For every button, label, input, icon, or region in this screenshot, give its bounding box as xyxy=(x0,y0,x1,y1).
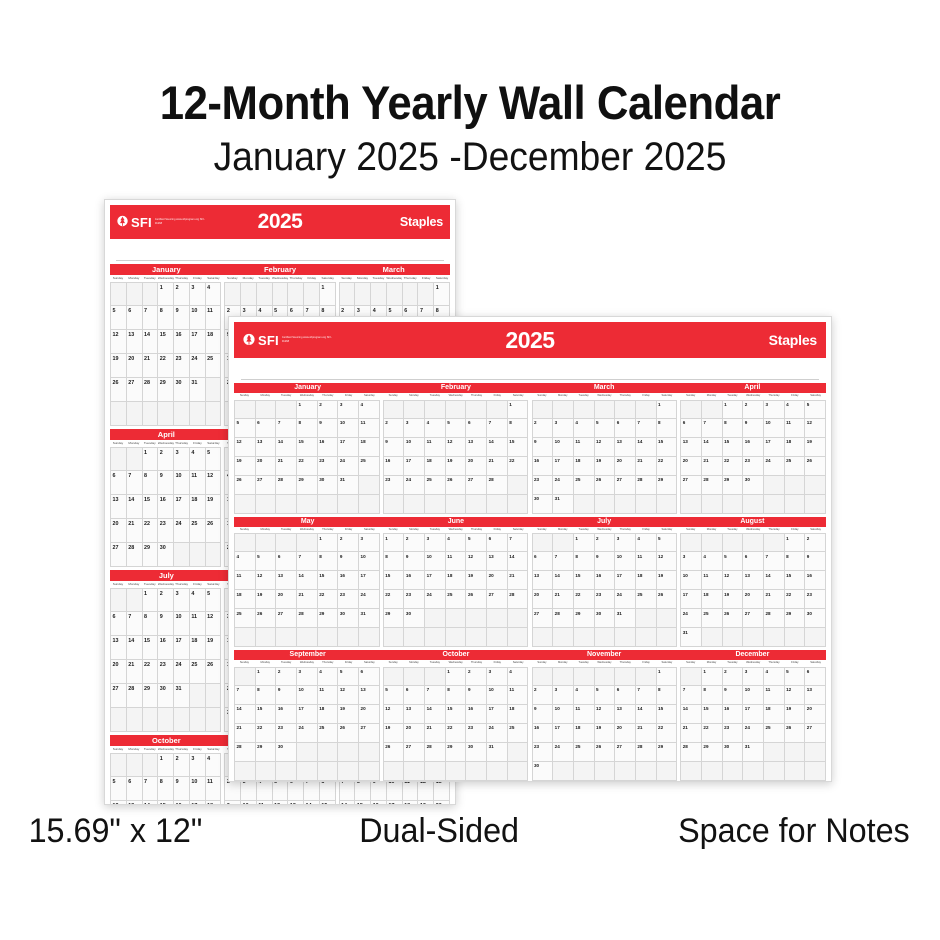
day-cell[interactable]: 23 xyxy=(404,590,425,609)
day-cell[interactable]: 26 xyxy=(595,743,616,762)
day-cell[interactable]: 8 xyxy=(158,306,174,330)
day-cell[interactable]: 27 xyxy=(127,378,143,402)
day-cell[interactable]: 5 xyxy=(595,419,616,438)
day-cell-empty[interactable] xyxy=(174,543,190,567)
day-cell[interactable]: 29 xyxy=(143,684,159,708)
day-cell[interactable]: 11 xyxy=(764,686,785,705)
day-cell[interactable]: 7 xyxy=(487,419,508,438)
day-cell[interactable]: 23 xyxy=(743,457,764,476)
day-cell[interactable]: 24 xyxy=(764,457,785,476)
day-cell[interactable]: 17 xyxy=(387,801,403,805)
day-cell[interactable]: 2 xyxy=(276,667,297,686)
day-cell-empty[interactable] xyxy=(702,495,723,514)
day-cell[interactable]: 11 xyxy=(234,571,256,590)
day-cell-empty[interactable] xyxy=(702,762,723,781)
day-cell-empty[interactable] xyxy=(234,762,256,781)
day-cell[interactable]: 1 xyxy=(657,400,678,419)
day-cell[interactable]: 16 xyxy=(158,636,174,660)
day-cell-empty[interactable] xyxy=(680,533,702,552)
day-cell[interactable]: 20 xyxy=(615,457,636,476)
day-cell[interactable]: 27 xyxy=(680,476,702,495)
day-cell[interactable]: 23 xyxy=(174,354,190,378)
day-cell[interactable]: 2 xyxy=(532,419,554,438)
day-cell[interactable]: 26 xyxy=(657,590,678,609)
day-cell[interactable]: 28 xyxy=(764,609,785,628)
day-cell-empty[interactable] xyxy=(297,495,318,514)
day-cell[interactable]: 10 xyxy=(615,552,636,571)
day-cell-empty[interactable] xyxy=(276,400,297,419)
day-cell[interactable]: 23 xyxy=(466,724,487,743)
day-cell[interactable]: 28 xyxy=(234,743,256,762)
day-cell[interactable]: 28 xyxy=(702,476,723,495)
day-cell-empty[interactable] xyxy=(723,533,744,552)
day-cell-empty[interactable] xyxy=(110,402,127,426)
day-cell[interactable]: 13 xyxy=(276,571,297,590)
day-cell-empty[interactable] xyxy=(127,708,143,732)
day-cell-empty[interactable] xyxy=(127,282,143,306)
day-cell[interactable]: 16 xyxy=(371,801,387,805)
day-cell[interactable]: 12 xyxy=(595,705,616,724)
day-cell[interactable]: 12 xyxy=(723,571,744,590)
day-cell-empty[interactable] xyxy=(158,402,174,426)
day-cell[interactable]: 21 xyxy=(508,571,529,590)
day-cell[interactable]: 5 xyxy=(466,533,487,552)
day-cell-empty[interactable] xyxy=(206,684,222,708)
day-cell-empty[interactable] xyxy=(256,400,277,419)
day-cell-empty[interactable] xyxy=(446,762,467,781)
day-cell[interactable]: 9 xyxy=(723,686,744,705)
day-cell[interactable]: 14 xyxy=(297,571,318,590)
day-cell-empty[interactable] xyxy=(723,628,744,647)
day-cell[interactable]: 15 xyxy=(702,705,723,724)
day-cell[interactable]: 28 xyxy=(553,609,574,628)
day-cell[interactable]: 7 xyxy=(127,612,143,636)
day-cell-empty[interactable] xyxy=(304,282,320,306)
day-cell[interactable]: 3 xyxy=(615,533,636,552)
day-cell-empty[interactable] xyxy=(143,402,159,426)
day-cell[interactable]: 9 xyxy=(158,612,174,636)
day-cell[interactable]: 29 xyxy=(574,609,595,628)
day-cell[interactable]: 9 xyxy=(595,552,616,571)
day-cell[interactable]: 8 xyxy=(785,552,806,571)
day-cell[interactable]: 27 xyxy=(404,743,425,762)
day-cell[interactable]: 14 xyxy=(127,495,143,519)
day-cell-empty[interactable] xyxy=(446,609,467,628)
day-cell[interactable]: 14 xyxy=(764,571,785,590)
day-cell[interactable]: 28 xyxy=(297,609,318,628)
day-cell-empty[interactable] xyxy=(636,667,657,686)
day-cell-empty[interactable] xyxy=(680,495,702,514)
day-cell[interactable]: 1 xyxy=(158,282,174,306)
day-cell[interactable]: 1 xyxy=(318,533,339,552)
day-cell[interactable]: 28 xyxy=(143,378,159,402)
day-cell-empty[interactable] xyxy=(256,533,277,552)
day-cell[interactable]: 15 xyxy=(297,438,318,457)
day-cell[interactable]: 30 xyxy=(723,743,744,762)
day-cell[interactable]: 2 xyxy=(532,686,554,705)
day-cell[interactable]: 8 xyxy=(383,552,405,571)
day-cell[interactable]: 20 xyxy=(615,724,636,743)
day-cell-empty[interactable] xyxy=(234,628,256,647)
day-cell[interactable]: 20 xyxy=(404,724,425,743)
day-cell[interactable]: 22 xyxy=(785,590,806,609)
day-cell-empty[interactable] xyxy=(446,495,467,514)
day-cell[interactable]: 31 xyxy=(680,628,702,647)
day-cell[interactable]: 25 xyxy=(425,476,446,495)
day-cell[interactable]: 10 xyxy=(174,612,190,636)
day-cell[interactable]: 8 xyxy=(297,419,318,438)
day-cell[interactable]: 11 xyxy=(702,571,723,590)
day-cell[interactable]: 18 xyxy=(403,801,419,805)
day-cell[interactable]: 3 xyxy=(338,400,359,419)
day-cell[interactable]: 4 xyxy=(206,753,222,777)
day-cell-empty[interactable] xyxy=(764,762,785,781)
day-cell-empty[interactable] xyxy=(359,743,380,762)
day-cell[interactable]: 8 xyxy=(318,552,339,571)
day-cell[interactable]: 8 xyxy=(657,686,678,705)
day-cell[interactable]: 25 xyxy=(508,724,529,743)
day-cell[interactable]: 24 xyxy=(615,590,636,609)
day-cell[interactable]: 30 xyxy=(743,476,764,495)
day-cell[interactable]: 24 xyxy=(743,724,764,743)
day-cell[interactable]: 3 xyxy=(404,419,425,438)
day-cell-empty[interactable] xyxy=(383,495,405,514)
day-cell-empty[interactable] xyxy=(553,628,574,647)
day-cell[interactable]: 16 xyxy=(723,705,744,724)
day-cell[interactable]: 7 xyxy=(553,552,574,571)
day-cell[interactable]: 1 xyxy=(657,667,678,686)
day-cell-empty[interactable] xyxy=(636,609,657,628)
day-cell[interactable]: 20 xyxy=(532,590,554,609)
day-cell[interactable]: 8 xyxy=(446,686,467,705)
day-cell[interactable]: 4 xyxy=(318,667,339,686)
day-cell[interactable]: 6 xyxy=(466,419,487,438)
day-cell[interactable]: 19 xyxy=(466,571,487,590)
day-cell[interactable]: 12 xyxy=(206,471,222,495)
day-cell[interactable]: 27 xyxy=(359,724,380,743)
day-cell[interactable]: 23 xyxy=(532,476,554,495)
day-cell[interactable]: 18 xyxy=(359,438,380,457)
day-cell[interactable]: 21 xyxy=(702,457,723,476)
day-cell[interactable]: 21 xyxy=(143,354,159,378)
day-cell[interactable]: 11 xyxy=(359,419,380,438)
day-cell[interactable]: 20 xyxy=(466,457,487,476)
day-cell[interactable]: 14 xyxy=(425,705,446,724)
day-cell[interactable]: 3 xyxy=(487,667,508,686)
day-cell[interactable]: 27 xyxy=(276,609,297,628)
day-cell[interactable]: 12 xyxy=(256,571,277,590)
day-cell-empty[interactable] xyxy=(297,743,318,762)
day-cell[interactable]: 9 xyxy=(174,777,190,801)
day-cell-empty[interactable] xyxy=(404,762,425,781)
day-cell[interactable]: 4 xyxy=(234,552,256,571)
day-cell[interactable]: 29 xyxy=(256,743,277,762)
day-cell[interactable]: 8 xyxy=(702,686,723,705)
day-cell[interactable]: 1 xyxy=(383,533,405,552)
day-cell[interactable]: 19 xyxy=(446,457,467,476)
day-cell[interactable]: 31 xyxy=(338,476,359,495)
day-cell[interactable]: 27 xyxy=(487,590,508,609)
day-cell[interactable]: 2 xyxy=(158,588,174,612)
day-cell-empty[interactable] xyxy=(553,400,574,419)
day-cell[interactable]: 10 xyxy=(553,438,574,457)
day-cell[interactable]: 4 xyxy=(574,419,595,438)
day-cell[interactable]: 14 xyxy=(143,330,159,354)
day-cell-empty[interactable] xyxy=(158,708,174,732)
day-cell-empty[interactable] xyxy=(636,400,657,419)
day-cell[interactable]: 5 xyxy=(723,552,744,571)
day-cell[interactable]: 7 xyxy=(425,686,446,705)
day-cell[interactable]: 22 xyxy=(574,590,595,609)
day-cell[interactable]: 9 xyxy=(532,705,554,724)
day-cell[interactable]: 17 xyxy=(615,571,636,590)
day-cell[interactable]: 6 xyxy=(615,419,636,438)
day-cell[interactable]: 30 xyxy=(404,609,425,628)
day-cell[interactable]: 19 xyxy=(785,705,806,724)
day-cell-empty[interactable] xyxy=(466,495,487,514)
day-cell[interactable]: 17 xyxy=(174,495,190,519)
day-cell-empty[interactable] xyxy=(190,402,206,426)
day-cell[interactable]: 21 xyxy=(276,457,297,476)
day-cell[interactable]: 15 xyxy=(657,438,678,457)
day-cell[interactable]: 25 xyxy=(574,476,595,495)
day-cell-empty[interactable] xyxy=(743,533,764,552)
day-cell[interactable]: 3 xyxy=(743,667,764,686)
day-cell-empty[interactable] xyxy=(234,495,256,514)
day-cell[interactable]: 5 xyxy=(234,419,256,438)
day-cell-empty[interactable] xyxy=(574,495,595,514)
day-cell[interactable]: 17 xyxy=(404,457,425,476)
day-cell-empty[interactable] xyxy=(234,667,256,686)
day-cell[interactable]: 18 xyxy=(234,590,256,609)
day-cell[interactable]: 2 xyxy=(383,419,405,438)
day-cell[interactable]: 26 xyxy=(234,476,256,495)
day-cell[interactable]: 21 xyxy=(636,724,657,743)
day-cell[interactable]: 20 xyxy=(127,354,143,378)
day-cell-empty[interactable] xyxy=(532,400,554,419)
day-cell[interactable]: 21 xyxy=(127,660,143,684)
day-cell-empty[interactable] xyxy=(297,628,318,647)
day-cell-empty[interactable] xyxy=(383,400,405,419)
day-cell[interactable]: 26 xyxy=(446,476,467,495)
day-cell[interactable]: 6 xyxy=(615,686,636,705)
day-cell-empty[interactable] xyxy=(743,762,764,781)
day-cell[interactable]: 22 xyxy=(383,590,405,609)
day-cell[interactable]: 30 xyxy=(174,378,190,402)
day-cell[interactable]: 22 xyxy=(143,660,159,684)
day-cell[interactable]: 13 xyxy=(615,438,636,457)
day-cell[interactable]: 15 xyxy=(143,495,159,519)
day-cell[interactable]: 21 xyxy=(297,590,318,609)
day-cell[interactable]: 29 xyxy=(446,743,467,762)
day-cell[interactable]: 2 xyxy=(174,282,190,306)
day-cell[interactable]: 24 xyxy=(404,476,425,495)
day-cell[interactable]: 26 xyxy=(206,660,222,684)
day-cell[interactable]: 26 xyxy=(466,590,487,609)
day-cell-empty[interactable] xyxy=(785,476,806,495)
day-cell-empty[interactable] xyxy=(190,543,206,567)
day-cell[interactable]: 10 xyxy=(404,438,425,457)
day-cell[interactable]: 30 xyxy=(532,495,554,514)
day-cell[interactable]: 7 xyxy=(276,419,297,438)
day-cell-empty[interactable] xyxy=(276,762,297,781)
day-cell[interactable]: 3 xyxy=(764,400,785,419)
day-cell[interactable]: 1 xyxy=(434,282,450,306)
day-cell-empty[interactable] xyxy=(371,282,387,306)
day-cell[interactable]: 31 xyxy=(174,684,190,708)
day-cell-empty[interactable] xyxy=(657,609,678,628)
day-cell-empty[interactable] xyxy=(508,495,529,514)
day-cell[interactable]: 14 xyxy=(680,705,702,724)
day-cell[interactable]: 26 xyxy=(383,743,405,762)
day-cell[interactable]: 9 xyxy=(174,306,190,330)
day-cell[interactable]: 11 xyxy=(190,612,206,636)
day-cell-empty[interactable] xyxy=(318,743,339,762)
day-cell[interactable]: 7 xyxy=(702,419,723,438)
day-cell[interactable]: 15 xyxy=(355,801,371,805)
day-cell[interactable]: 28 xyxy=(127,684,143,708)
day-cell[interactable]: 10 xyxy=(487,686,508,705)
day-cell[interactable]: 9 xyxy=(532,438,554,457)
day-cell[interactable]: 11 xyxy=(636,552,657,571)
day-cell[interactable]: 26 xyxy=(723,609,744,628)
day-cell[interactable]: 17 xyxy=(487,705,508,724)
day-cell-empty[interactable] xyxy=(595,495,616,514)
day-cell-empty[interactable] xyxy=(508,743,529,762)
day-cell-empty[interactable] xyxy=(143,753,159,777)
day-cell[interactable]: 21 xyxy=(553,590,574,609)
day-cell-empty[interactable] xyxy=(355,282,371,306)
day-cell-empty[interactable] xyxy=(508,476,529,495)
day-cell-empty[interactable] xyxy=(680,762,702,781)
day-cell[interactable]: 11 xyxy=(190,471,206,495)
day-cell[interactable]: 24 xyxy=(425,590,446,609)
day-cell[interactable]: 16 xyxy=(404,571,425,590)
day-cell[interactable]: 25 xyxy=(206,354,222,378)
day-cell-empty[interactable] xyxy=(383,628,405,647)
day-cell-empty[interactable] xyxy=(359,495,380,514)
day-cell[interactable]: 14 xyxy=(339,801,356,805)
day-cell-empty[interactable] xyxy=(487,495,508,514)
day-cell[interactable]: 23 xyxy=(318,457,339,476)
day-cell[interactable]: 13 xyxy=(359,686,380,705)
day-cell-empty[interactable] xyxy=(466,628,487,647)
day-cell[interactable]: 30 xyxy=(318,476,339,495)
day-cell-empty[interactable] xyxy=(297,533,318,552)
day-cell[interactable]: 11 xyxy=(206,777,222,801)
day-cell-empty[interactable] xyxy=(256,495,277,514)
day-cell[interactable]: 22 xyxy=(657,724,678,743)
day-cell[interactable]: 12 xyxy=(383,705,405,724)
day-cell[interactable]: 12 xyxy=(234,438,256,457)
day-cell[interactable]: 7 xyxy=(636,419,657,438)
day-cell[interactable]: 10 xyxy=(680,571,702,590)
day-cell[interactable]: 22 xyxy=(318,590,339,609)
day-cell[interactable]: 20 xyxy=(110,519,127,543)
day-cell-empty[interactable] xyxy=(764,495,785,514)
day-cell[interactable]: 10 xyxy=(359,552,380,571)
day-cell[interactable]: 30 xyxy=(158,684,174,708)
day-cell[interactable]: 21 xyxy=(425,724,446,743)
day-cell[interactable]: 15 xyxy=(723,438,744,457)
day-cell[interactable]: 18 xyxy=(574,457,595,476)
day-cell-empty[interactable] xyxy=(702,400,723,419)
day-cell[interactable]: 24 xyxy=(487,724,508,743)
day-cell[interactable]: 3 xyxy=(359,533,380,552)
day-cell-empty[interactable] xyxy=(723,762,744,781)
day-cell-empty[interactable] xyxy=(680,400,702,419)
day-cell[interactable]: 2 xyxy=(743,400,764,419)
day-cell-empty[interactable] xyxy=(224,282,241,306)
day-cell[interactable]: 14 xyxy=(487,438,508,457)
day-cell[interactable]: 9 xyxy=(338,552,359,571)
day-cell-empty[interactable] xyxy=(359,628,380,647)
day-cell[interactable]: 22 xyxy=(657,457,678,476)
day-cell[interactable]: 28 xyxy=(127,543,143,567)
day-cell-empty[interactable] xyxy=(234,400,256,419)
day-cell[interactable]: 7 xyxy=(636,686,657,705)
day-cell[interactable]: 31 xyxy=(190,378,206,402)
day-cell[interactable]: 16 xyxy=(595,571,616,590)
day-cell[interactable]: 30 xyxy=(466,743,487,762)
day-cell[interactable]: 28 xyxy=(636,743,657,762)
day-cell[interactable]: 15 xyxy=(143,636,159,660)
day-cell-empty[interactable] xyxy=(110,282,127,306)
day-cell-empty[interactable] xyxy=(595,400,616,419)
day-cell[interactable]: 7 xyxy=(127,471,143,495)
day-cell-empty[interactable] xyxy=(256,762,277,781)
day-cell[interactable]: 5 xyxy=(110,306,127,330)
day-cell[interactable]: 24 xyxy=(174,519,190,543)
day-cell[interactable]: 9 xyxy=(318,419,339,438)
day-cell-empty[interactable] xyxy=(127,588,143,612)
day-cell[interactable]: 22 xyxy=(446,724,467,743)
day-cell-empty[interactable] xyxy=(383,667,405,686)
day-cell[interactable]: 6 xyxy=(110,471,127,495)
day-cell[interactable]: 3 xyxy=(190,753,206,777)
day-cell[interactable]: 19 xyxy=(805,438,826,457)
day-cell-empty[interactable] xyxy=(387,282,403,306)
day-cell[interactable]: 27 xyxy=(110,543,127,567)
day-cell[interactable]: 31 xyxy=(487,743,508,762)
day-cell[interactable]: 16 xyxy=(743,438,764,457)
day-cell[interactable]: 20 xyxy=(359,705,380,724)
day-cell[interactable]: 22 xyxy=(508,457,529,476)
day-cell[interactable]: 24 xyxy=(297,724,318,743)
day-cell[interactable]: 17 xyxy=(174,636,190,660)
day-cell[interactable]: 14 xyxy=(276,438,297,457)
day-cell[interactable]: 25 xyxy=(318,724,339,743)
day-cell[interactable]: 26 xyxy=(256,609,277,628)
day-cell[interactable]: 22 xyxy=(143,519,159,543)
day-cell[interactable]: 22 xyxy=(723,457,744,476)
day-cell[interactable]: 20 xyxy=(805,705,826,724)
day-cell[interactable]: 29 xyxy=(657,476,678,495)
day-cell[interactable]: 28 xyxy=(487,476,508,495)
day-cell-empty[interactable] xyxy=(288,282,304,306)
day-cell[interactable]: 16 xyxy=(338,571,359,590)
day-cell[interactable]: 5 xyxy=(595,686,616,705)
day-cell-empty[interactable] xyxy=(532,628,554,647)
day-cell[interactable]: 2 xyxy=(338,533,359,552)
day-cell[interactable]: 11 xyxy=(206,306,222,330)
day-cell-empty[interactable] xyxy=(339,282,356,306)
day-cell-empty[interactable] xyxy=(487,762,508,781)
day-cell-empty[interactable] xyxy=(680,667,702,686)
day-cell[interactable]: 5 xyxy=(383,686,405,705)
day-cell[interactable]: 2 xyxy=(158,447,174,471)
day-cell-empty[interactable] xyxy=(110,447,127,471)
